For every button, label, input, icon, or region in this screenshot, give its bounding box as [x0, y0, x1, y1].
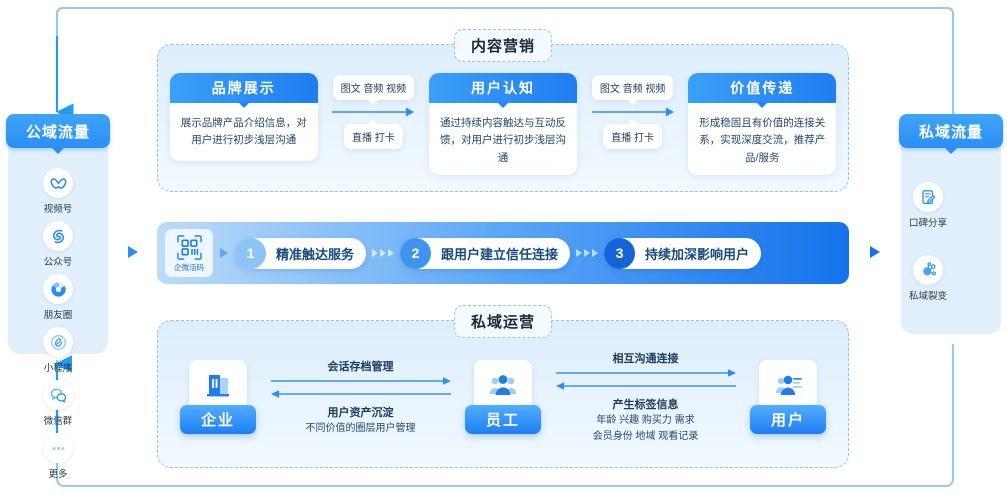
public-traffic-panel: 公域流量 视频号 公众号 [8, 130, 108, 354]
channel-item-official-account[interactable]: 公众号 [35, 221, 81, 268]
step-number: 3 [604, 238, 635, 269]
step-label: 持续加深影响用户 [635, 244, 749, 263]
private-operation-section: 私域运营 企业 会话存档管理 [157, 320, 849, 468]
private-traffic-title: 私域流量 [899, 114, 1003, 148]
connector-live-tags: 直播 打卡 [603, 124, 662, 149]
content-card-cognition[interactable]: 用户认知 通过持续内容触达与互动反馈，对用户进行初步浅层沟通 [429, 73, 577, 175]
link-mid-label: 产生标签信息 [613, 396, 679, 412]
connector-arrow-icon [590, 104, 676, 120]
journey-band: 企微活码 1 精准触达服务 2 跟用户建立信任连接 3 持续加深影响用户 [157, 222, 849, 284]
private-operation-badge: 私域运营 [454, 305, 552, 338]
journey-outflow-arrow-icon [870, 246, 880, 258]
fission-icon [913, 255, 943, 285]
private-label: 口碑分享 [909, 215, 947, 229]
entity-user[interactable]: 用户 [746, 360, 830, 434]
qr-code-icon [176, 234, 203, 261]
step-label: 跟用户建立信任连接 [431, 244, 558, 263]
entity-enterprise[interactable]: 企业 [176, 360, 260, 434]
diagram-canvas: 公域流量 视频号 公众号 [0, 0, 1007, 500]
content-card-title: 用户认知 [429, 73, 577, 103]
link-top-label: 相互沟通连接 [613, 350, 679, 366]
journey-inflow-arrow-icon [128, 246, 138, 258]
content-marketing-badge: 内容营销 [454, 29, 552, 62]
journey-chevrons-1 [372, 249, 394, 257]
connector-arrow-icon [330, 104, 416, 120]
more-dots-icon [43, 433, 73, 463]
journey-step-1[interactable]: 1 精准触达服务 [235, 238, 366, 269]
building-icon [202, 370, 234, 402]
connector-media-tags: 图文 音频 视频 [333, 75, 415, 100]
qr-activation-code[interactable]: 企微活码 [165, 229, 213, 277]
content-card-value[interactable]: 价值传递 形成稳固且有价值的连接关系，实现深度交流，推荐产品/服务 [688, 73, 836, 175]
channel-item-channels[interactable]: 视频号 [35, 168, 81, 215]
entity-staff[interactable]: 员工 [461, 360, 545, 434]
qr-activation-label: 企微活码 [174, 262, 204, 273]
channel-label: 更多 [48, 466, 67, 480]
channel-item-wechat-group[interactable]: 微信群 [35, 380, 81, 427]
private-label: 私域裂变 [909, 288, 947, 302]
step-label: 精准触达服务 [266, 244, 354, 263]
link-sub-label: 年龄 兴趣 购买力 需求会员身份 地域 观看记录 [593, 413, 699, 445]
connector-media-tags: 图文 音频 视频 [592, 75, 674, 100]
private-item-fission[interactable]: 私域裂变 [905, 255, 951, 302]
public-traffic-icon-grid: 视频号 公众号 [8, 164, 108, 484]
channel-label: 朋友圈 [44, 307, 73, 321]
bidirectional-arrow-icon [267, 375, 455, 401]
content-marketing-section: 内容营销 品牌展示 展示品牌产品介绍信息，对用户进行初步浅层沟通 图文 音频 视… [157, 44, 849, 192]
content-connector-2: 图文 音频 视频 直播 打卡 [577, 73, 689, 149]
content-card-body: 形成稳固且有价值的连接关系，实现深度交流，推荐产品/服务 [688, 103, 836, 175]
channel-label: 视频号 [44, 201, 73, 215]
channel-item-moments[interactable]: 朋友圈 [35, 274, 81, 321]
link-staff-user: 相互沟通连接 产生标签信息 年龄 兴趣 购买力 需求会员身份 地域 观看记录 [545, 350, 746, 445]
channels-icon [43, 168, 73, 198]
private-operation-row: 企业 会话存档管理 用户资产沉淀 不同价值的圈层用户管理 [176, 343, 830, 451]
content-card-title: 品牌展示 [170, 73, 318, 103]
content-card-body: 展示品牌产品介绍信息，对用户进行初步浅层沟通 [170, 103, 318, 158]
entity-label: 用户 [750, 405, 826, 434]
step-number: 1 [235, 238, 266, 269]
journey-step-3[interactable]: 3 持续加深影响用户 [604, 238, 761, 269]
channel-item-mini-program[interactable]: 小程序 [35, 327, 81, 374]
moments-icon [43, 274, 73, 304]
channel-item-more[interactable]: 更多 [35, 433, 81, 480]
journey-step-arrow-icon [220, 248, 228, 258]
channel-label: 小程序 [44, 360, 73, 374]
channel-label: 微信群 [44, 413, 73, 427]
mini-program-icon [43, 327, 73, 357]
content-card-brand[interactable]: 品牌展示 展示品牌产品介绍信息，对用户进行初步浅层沟通 [170, 73, 318, 161]
journey-chevrons-2 [576, 249, 598, 257]
private-traffic-icon-grid: 口碑分享 私域裂变 [901, 178, 1001, 306]
link-sub-label: 不同价值的圈层用户管理 [306, 421, 416, 437]
link-enterprise-staff: 会话存档管理 用户资产沉淀 不同价值的圈层用户管理 [260, 358, 461, 437]
private-traffic-panel: 私域流量 口碑分享 [901, 130, 1001, 334]
content-connector-1: 图文 音频 视频 直播 打卡 [318, 73, 430, 149]
link-top-label: 会话存档管理 [328, 358, 394, 374]
wechat-group-icon [43, 380, 73, 410]
link-mid-label: 用户资产沉淀 [328, 404, 394, 420]
user-profile-icon [772, 370, 804, 402]
public-traffic-title: 公域流量 [6, 114, 110, 148]
connector-live-tags: 直播 打卡 [344, 124, 403, 149]
entity-label: 员工 [465, 405, 541, 434]
journey-step-2[interactable]: 2 跟用户建立信任连接 [400, 238, 570, 269]
step-number: 2 [400, 238, 431, 269]
content-marketing-row: 品牌展示 展示品牌产品介绍信息，对用户进行初步浅层沟通 图文 音频 视频 直播 … [170, 73, 836, 175]
staff-group-icon [487, 370, 519, 402]
channel-label: 公众号 [44, 254, 73, 268]
content-card-body: 通过持续内容触达与互动反馈，对用户进行初步浅层沟通 [429, 103, 577, 175]
private-item-word-of-mouth[interactable]: 口碑分享 [905, 182, 951, 229]
entity-label: 企业 [180, 405, 256, 434]
word-of-mouth-icon [913, 182, 943, 212]
content-card-title: 价值传递 [688, 73, 836, 103]
official-account-icon [43, 221, 73, 251]
bidirectional-arrow-icon [552, 367, 740, 393]
